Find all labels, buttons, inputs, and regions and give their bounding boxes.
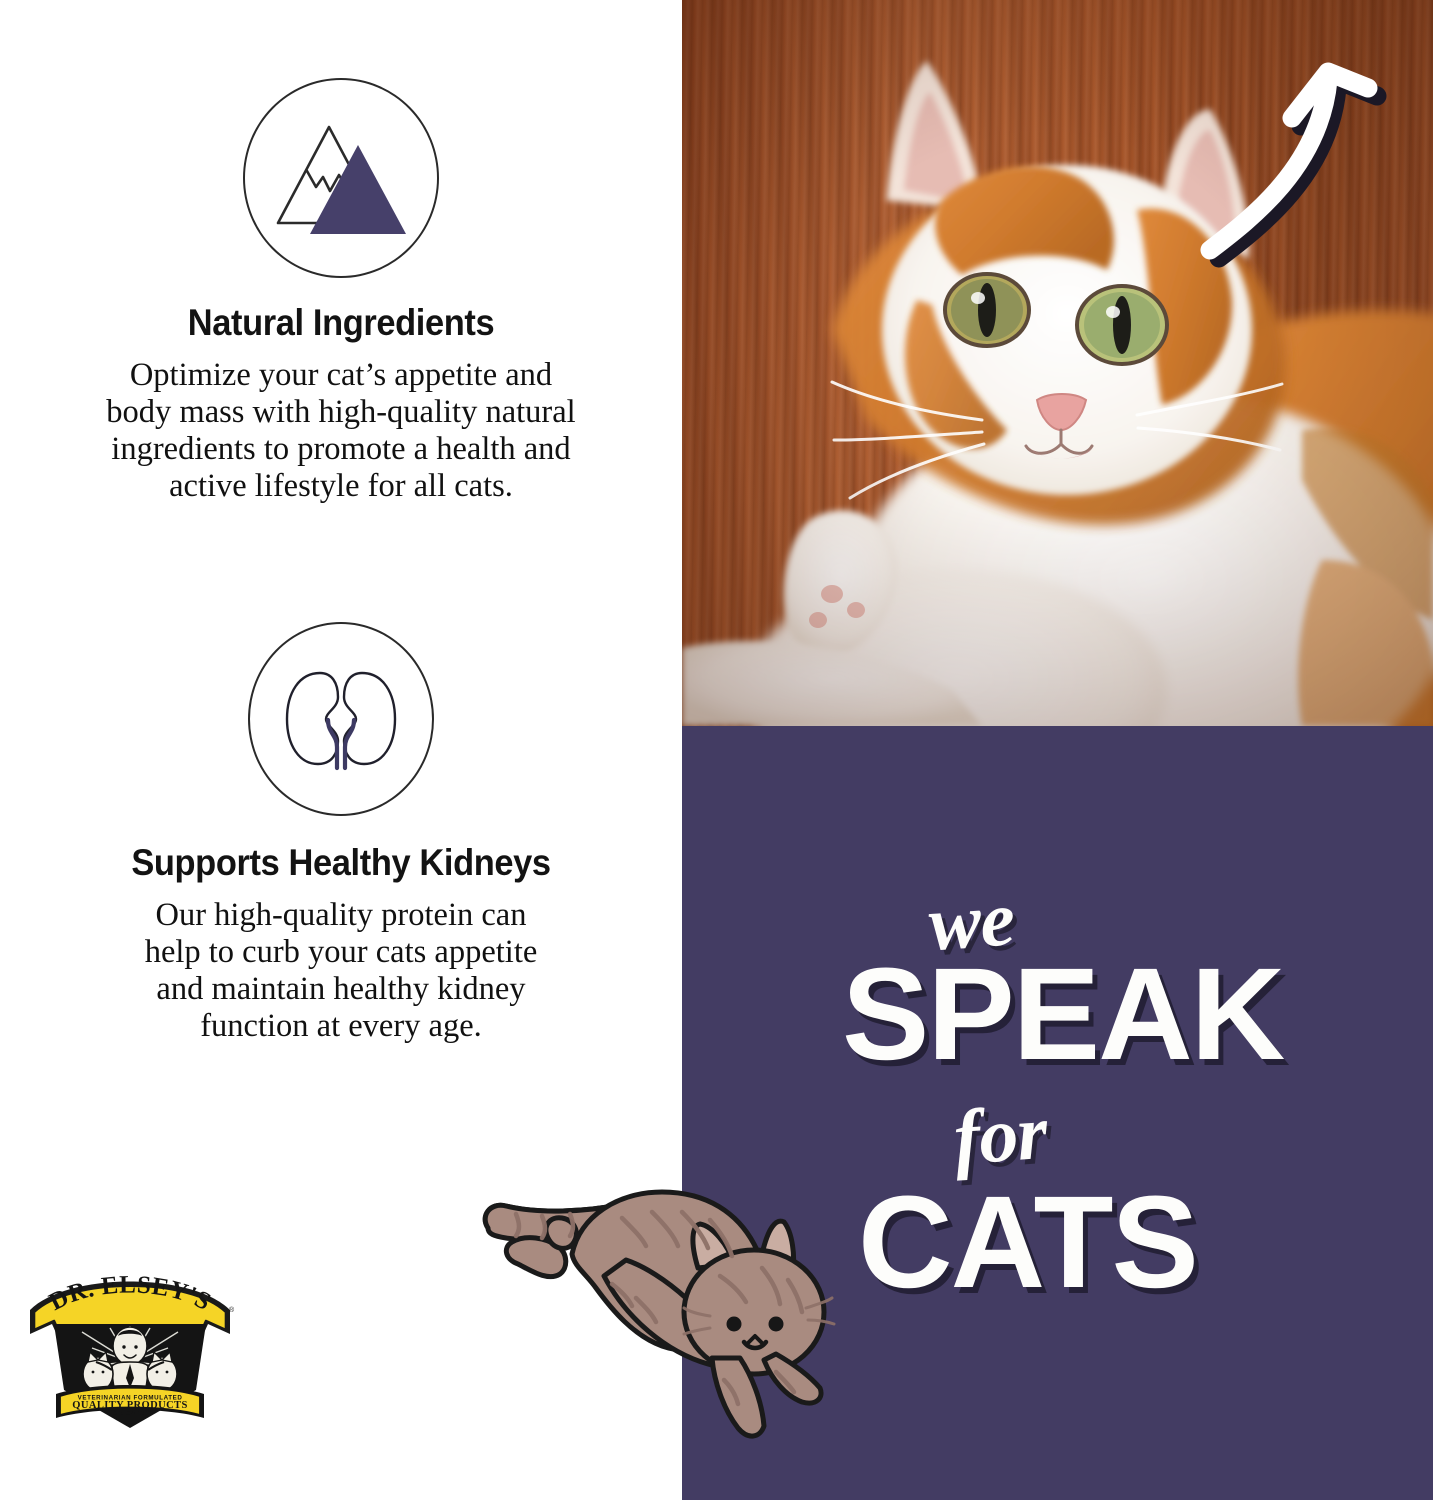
- logo-tagline-mid-label: QUALITY PRODUCTS: [240, 1262, 241, 1263]
- feature-body: Our high-quality protein can help to cur…: [31, 897, 651, 1045]
- feature-natural-ingredients: Natural Ingredients Optimize your cat’s …: [0, 78, 682, 505]
- logo-tagline-bottom-label: FOR CATS™: [240, 1262, 241, 1263]
- jumping-tabby-cat-illustration: [476, 1168, 846, 1468]
- feature-body: Optimize your cat’s appetite and body ma…: [11, 357, 671, 505]
- feature-supports-healthy-kidneys: Supports Healthy Kidneys Our high-qualit…: [0, 622, 682, 1045]
- feature-title: Natural Ingredients: [24, 304, 658, 343]
- feature-title: Supports Healthy Kidneys: [24, 844, 658, 883]
- kidney-icon: [248, 622, 434, 816]
- logo-tagline-top-label: VETERINARIAN FORMULATED: [240, 1262, 241, 1263]
- curved-up-arrow: [1182, 0, 1422, 270]
- infographic-root: Natural Ingredients Optimize your cat’s …: [0, 0, 1433, 1500]
- dr-elseys-logo: DR. ELSEY'S VETERINARIAN FORMULATED QUAL…: [20, 1262, 240, 1442]
- mountain-icon: [243, 78, 439, 278]
- logo-brand-label: DR. ELSEY'S: [240, 1262, 241, 1263]
- logo-registered-mark: ®: [229, 1306, 235, 1314]
- logo-tagline-bottom: FOR CATS™: [108, 1410, 152, 1417]
